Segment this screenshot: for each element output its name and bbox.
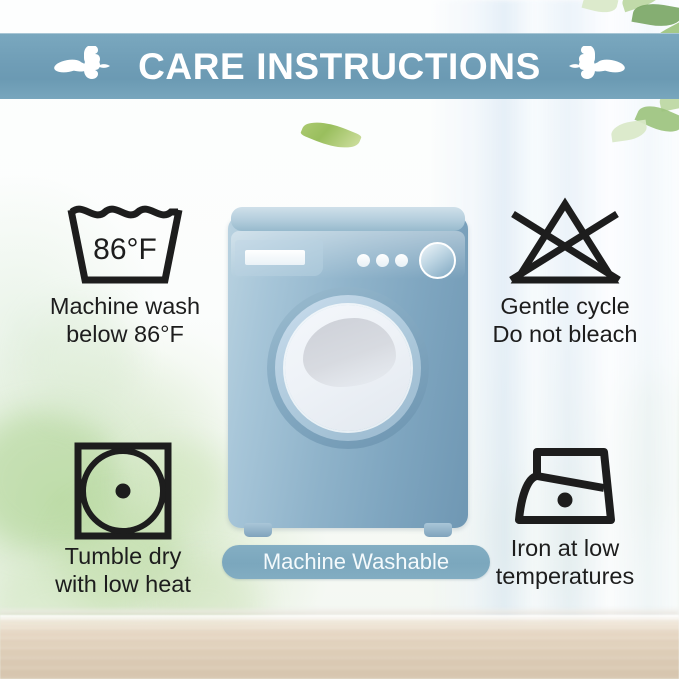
- machine-washable-badge: Machine Washable: [222, 545, 490, 579]
- washer-door-outer-ring: [267, 287, 429, 449]
- care-caption-tumble-dry: Tumble dry with low heat: [10, 542, 236, 598]
- fleur-de-lis-right-icon: [567, 46, 625, 86]
- washer-foot-right: [424, 523, 452, 537]
- washer-door-glass: [285, 305, 411, 431]
- washer-top-lid: [231, 207, 465, 231]
- page-title: CARE INSTRUCTIONS: [138, 48, 541, 85]
- washer-foot-left: [244, 523, 272, 537]
- washer-door-mid-ring: [275, 295, 421, 441]
- care-caption-machine-wash: Machine wash below 86°F: [12, 292, 238, 348]
- washer-door-reflection: [303, 318, 396, 387]
- wash-tub-icon: 86°F: [12, 196, 238, 292]
- wood-table-surface: [0, 615, 679, 679]
- care-caption-do-not-bleach: Gentle cycle Do not bleach: [452, 292, 678, 348]
- washing-machine-illustration: [228, 207, 468, 537]
- care-item-machine-wash: 86°F Machine wash below 86°F: [12, 196, 238, 348]
- triangle-crossed-out-icon: [452, 192, 678, 292]
- care-item-tumble-dry: Tumble dry with low heat: [10, 440, 236, 598]
- washer-button-1[interactable]: [357, 254, 370, 267]
- washer-dial-knob[interactable]: [419, 242, 456, 279]
- detergent-drawer: [235, 240, 323, 276]
- wash-temperature-label: 86°F: [93, 233, 157, 266]
- header-banner: CARE INSTRUCTIONS: [0, 33, 679, 99]
- table-edge-highlight: [0, 607, 679, 615]
- machine-washable-label: Machine Washable: [263, 551, 449, 573]
- care-item-do-not-bleach: Gentle cycle Do not bleach: [452, 192, 678, 348]
- iron-low-icon: [452, 442, 678, 534]
- washer-button-3[interactable]: [395, 254, 408, 267]
- care-instructions-infographic: CARE INSTRUCTIONS 86°F Machine wash belo…: [0, 0, 679, 679]
- tumble-dry-low-icon: [10, 440, 236, 542]
- fleur-de-lis-left-icon: [54, 46, 112, 86]
- washer-button-2[interactable]: [376, 254, 389, 267]
